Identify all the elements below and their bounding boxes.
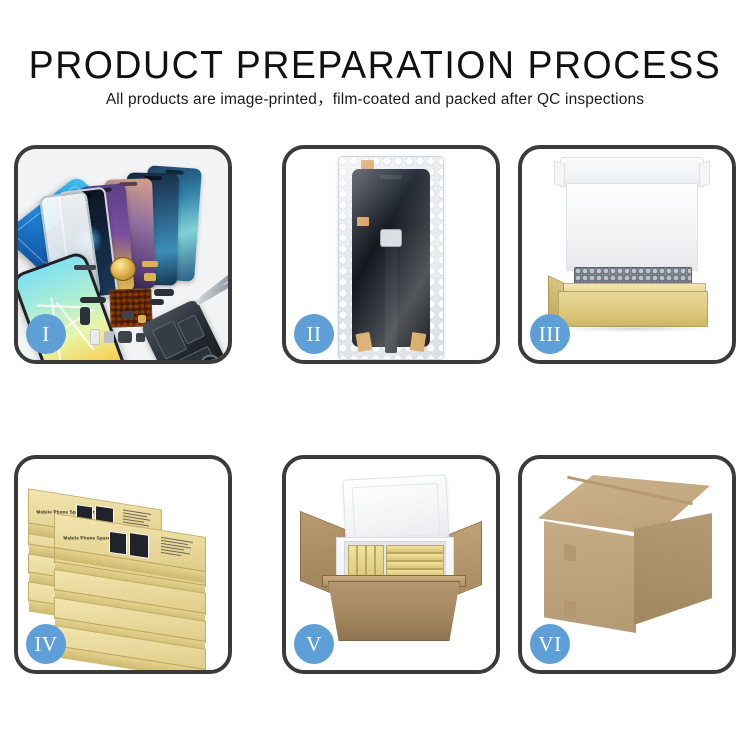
step-badge-2: II (294, 314, 334, 354)
yellow-box-base (558, 291, 708, 327)
carton-front-panel (544, 521, 636, 633)
tape-patch (564, 544, 576, 562)
tape-patch (564, 600, 576, 618)
spare-part (74, 265, 96, 270)
carton-side-panel (634, 513, 712, 625)
step-badge-6: VI (530, 624, 570, 664)
lcd-screen-assembly (352, 169, 430, 347)
spare-part (90, 329, 100, 345)
step-badge-4: IV (26, 624, 66, 664)
spare-part (104, 331, 114, 343)
phone-back-housing (140, 298, 228, 360)
spare-part (122, 311, 134, 319)
spare-part (80, 307, 90, 325)
foam-sheet (566, 183, 698, 271)
process-step-card-2: II (282, 145, 500, 364)
flex-ribbon-cable (385, 233, 397, 353)
spare-part (80, 297, 106, 303)
step-badge-1: I (26, 314, 66, 354)
process-step-grid: I II (0, 0, 750, 750)
spare-part (144, 273, 156, 281)
tweezers-tool (195, 281, 228, 305)
process-step-card-4: Mobile Phone Spare Parts Mobile Phone Sp… (14, 455, 232, 674)
box-window-graphic (129, 532, 149, 559)
tape-strip (361, 160, 374, 169)
spare-part (154, 289, 174, 296)
box-window-graphic (109, 531, 127, 556)
spare-part (142, 261, 158, 267)
spare-part (150, 299, 164, 305)
drop-shadow (558, 325, 708, 332)
bubble-wrap-pouch (338, 156, 444, 360)
process-step-card-3: III (518, 145, 736, 364)
process-step-card-5: V (282, 455, 500, 674)
product-preparation-page: PRODUCT PREPARATION PROCESS All products… (0, 0, 750, 750)
tape-strip (356, 332, 373, 352)
tape-strip (357, 217, 369, 226)
process-step-card-1: I (14, 145, 232, 364)
carton-front-panel (328, 581, 460, 641)
ribbon-connector (380, 229, 402, 247)
speaker-disc-part (110, 257, 136, 281)
step-badge-5: V (294, 624, 334, 664)
tape-strip (410, 332, 426, 352)
spare-part (118, 331, 132, 343)
process-step-card-6: VI (518, 455, 736, 674)
step-badge-3: III (530, 314, 570, 354)
